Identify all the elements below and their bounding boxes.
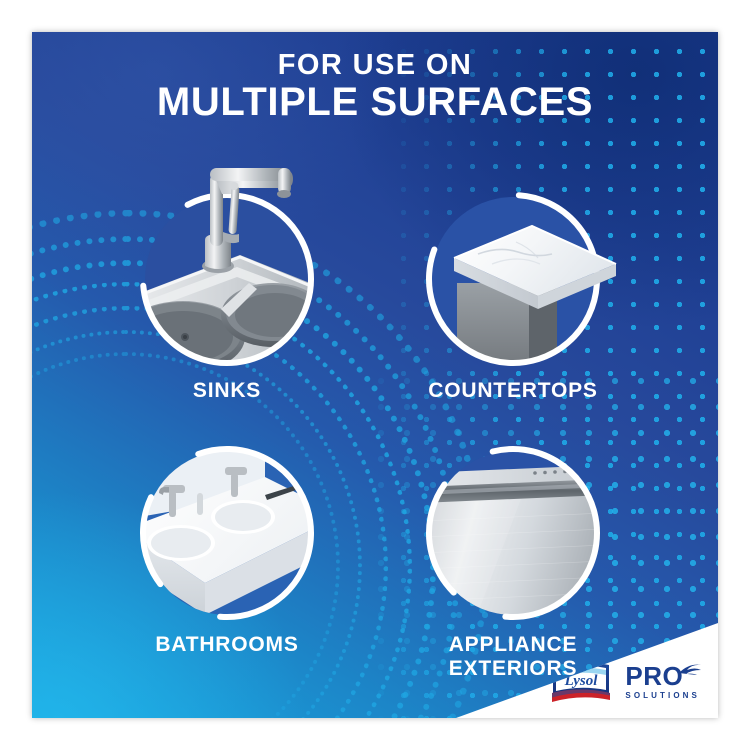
badge-bathrooms-label: BATHROOMS [138, 633, 316, 657]
badge-sinks-circle [138, 190, 316, 368]
badge-bathrooms-ring [138, 444, 316, 622]
badge-countertops-ring [424, 190, 602, 368]
badge-bathrooms-circle [138, 444, 316, 622]
pro-swoosh-icon [678, 661, 704, 679]
badge-countertops-label: COUNTERTOPS [424, 379, 602, 403]
badge-appliance-ring [424, 444, 602, 622]
infographic-canvas: FOR USE ON MULTIPLE SURFACES [0, 0, 750, 750]
badge-appliance-exteriors[interactable]: APPLIANCE EXTERIORS [424, 444, 602, 680]
page-title: FOR USE ON MULTIPLE SURFACES [32, 50, 718, 125]
title-line-1: FOR USE ON [32, 50, 718, 80]
badge-appliance-label: APPLIANCE EXTERIORS [424, 633, 602, 680]
badge-sinks-label: SINKS [138, 379, 316, 403]
blue-background-panel: FOR USE ON MULTIPLE SURFACES [32, 32, 718, 718]
badge-countertops[interactable]: COUNTERTOPS [424, 190, 602, 403]
badge-sinks[interactable]: SINKS [138, 190, 316, 403]
badge-appliance-circle [424, 444, 602, 622]
badge-appliance-label-line1: APPLIANCE [424, 633, 602, 657]
pro-solutions-logo: PRO SOLUTIONS [625, 664, 700, 700]
title-line-2: MULTIPLE SURFACES [32, 81, 718, 124]
badge-countertops-circle [424, 190, 602, 368]
solutions-wordmark: SOLUTIONS [625, 691, 700, 700]
badge-bathrooms[interactable]: BATHROOMS [138, 444, 316, 657]
badge-sinks-ring [138, 190, 316, 368]
